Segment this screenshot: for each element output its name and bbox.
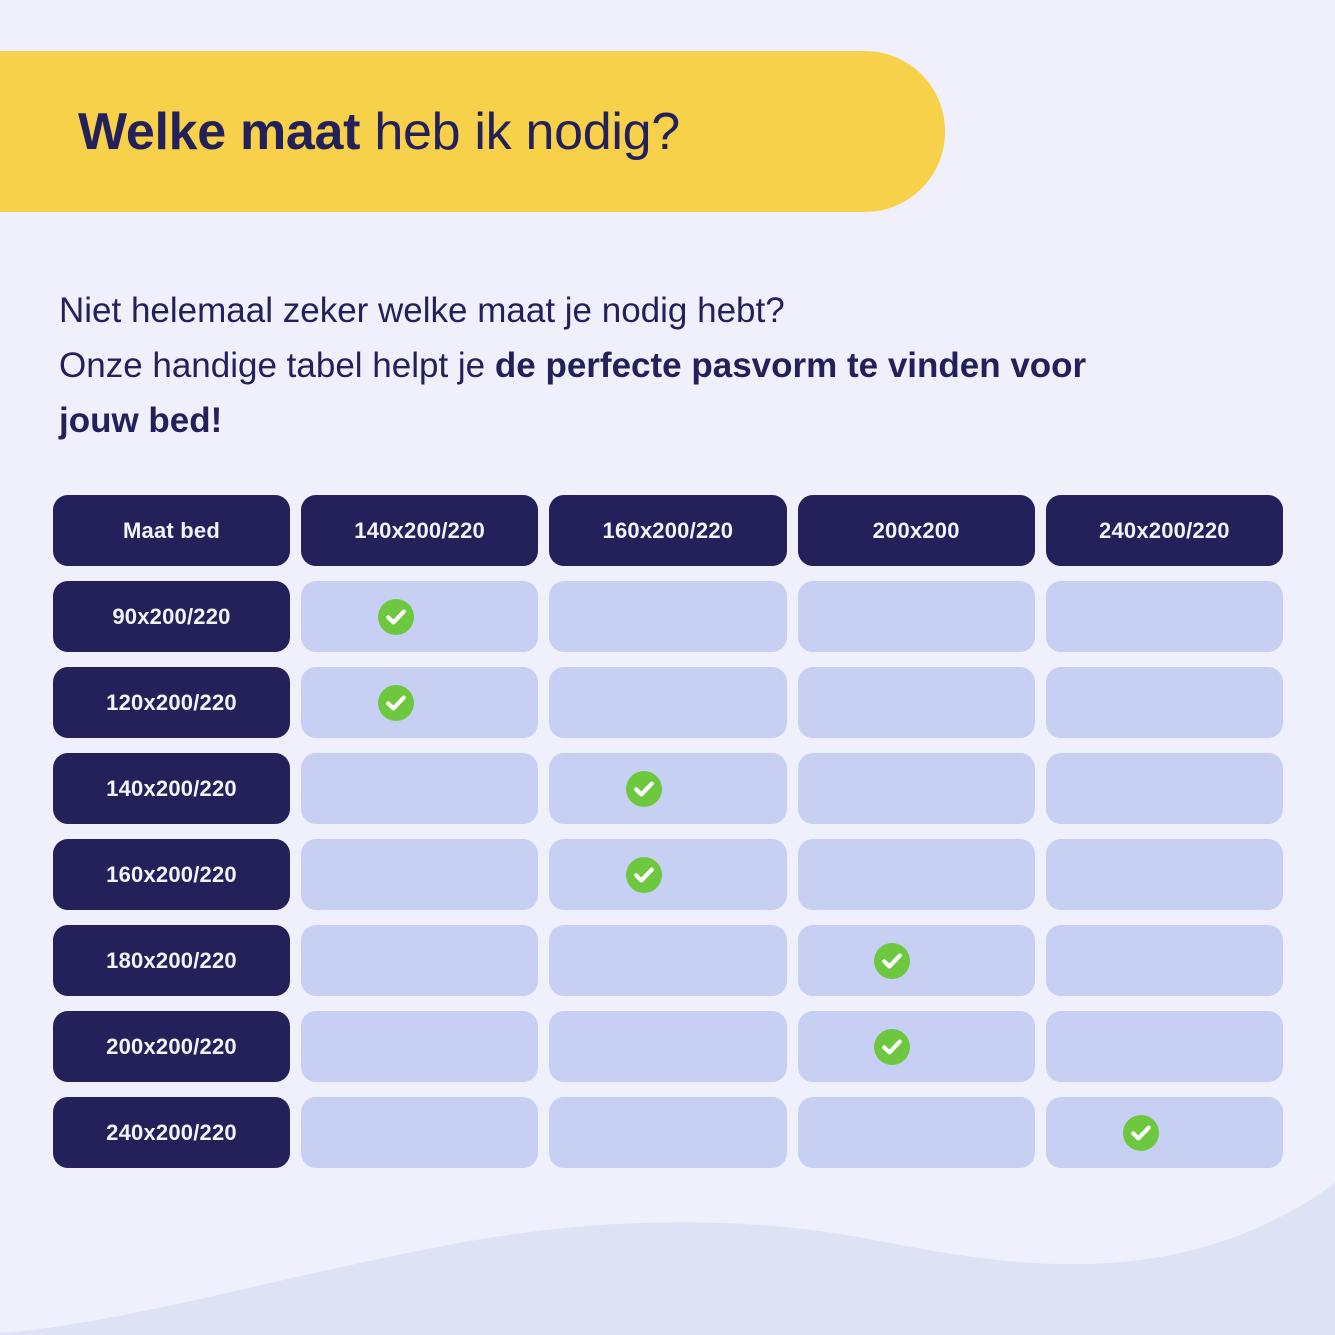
table-cell-r4-c3 [798, 839, 1035, 910]
check-circle-icon [626, 857, 662, 893]
table-cell-r5-c3 [798, 925, 1035, 996]
table-cell-r3-c4 [1046, 753, 1283, 824]
intro-paragraph: Niet helemaal zeker welke maat je nodig … [59, 283, 1119, 448]
row-header-120x200-220: 120x200/220 [53, 667, 290, 738]
column-header-200x200: 200x200 [798, 495, 1035, 566]
table-cell-r4-c1 [301, 839, 538, 910]
table-cell-r1-c2 [549, 581, 786, 652]
table-cell-r2-c2 [549, 667, 786, 738]
column-header-240x200: 240x200/220 [1046, 495, 1283, 566]
row-header-200x200-220: 200x200/220 [53, 1011, 290, 1082]
header-banner: Welke maat heb ik nodig? [0, 51, 945, 212]
check-circle-icon [378, 685, 414, 721]
table-cell-r2-c3 [798, 667, 1035, 738]
table-row: 200x200/220 [53, 1011, 1283, 1082]
table-row: 160x200/220 [53, 839, 1283, 910]
table-cell-r7-c4 [1046, 1097, 1283, 1168]
table-cell-r6-c4 [1046, 1011, 1283, 1082]
table-cell-r2-c4 [1046, 667, 1283, 738]
table-cell-r7-c3 [798, 1097, 1035, 1168]
row-header-240x200-220: 240x200/220 [53, 1097, 290, 1168]
table-cell-r3-c2 [549, 753, 786, 824]
table-row: 240x200/220 [53, 1097, 1283, 1168]
column-header-maat-bed: Maat bed [53, 495, 290, 566]
table-row: 180x200/220 [53, 925, 1283, 996]
table-row: 120x200/220 [53, 667, 1283, 738]
check-circle-icon [626, 771, 662, 807]
table-cell-r1-c4 [1046, 581, 1283, 652]
table-cell-r1-c1 [301, 581, 538, 652]
check-circle-icon [378, 599, 414, 635]
column-header-140x200: 140x200/220 [301, 495, 538, 566]
intro-line-2-normal: Onze handige tabel helpt je [59, 346, 495, 385]
table-row: 140x200/220 [53, 753, 1283, 824]
check-circle-icon [874, 943, 910, 979]
table-cell-r6-c2 [549, 1011, 786, 1082]
table-cell-r1-c3 [798, 581, 1035, 652]
table-cell-r4-c2 [549, 839, 786, 910]
bottom-wave-decoration [0, 1175, 1335, 1335]
check-circle-icon [874, 1029, 910, 1065]
row-header-180x200-220: 180x200/220 [53, 925, 290, 996]
column-header-160x200: 160x200/220 [549, 495, 786, 566]
table-cell-r3-c3 [798, 753, 1035, 824]
table-cell-r7-c1 [301, 1097, 538, 1168]
table-row: 90x200/220 [53, 581, 1283, 652]
table-cell-r7-c2 [549, 1097, 786, 1168]
table-cell-r3-c1 [301, 753, 538, 824]
wave-path [0, 1183, 1335, 1335]
page-title: Welke maat heb ik nodig? [78, 106, 680, 158]
size-table: Maat bed 140x200/220 160x200/220 200x200… [53, 495, 1283, 1168]
row-header-90x200-220: 90x200/220 [53, 581, 290, 652]
table-cell-r6-c3 [798, 1011, 1035, 1082]
table-cell-r5-c1 [301, 925, 538, 996]
table-cell-r6-c1 [301, 1011, 538, 1082]
table-cell-r5-c2 [549, 925, 786, 996]
row-header-140x200-220: 140x200/220 [53, 753, 290, 824]
intro-line-1: Niet helemaal zeker welke maat je nodig … [59, 291, 785, 330]
page-title-bold: Welke maat [78, 103, 360, 161]
table-cell-r2-c1 [301, 667, 538, 738]
table-body: 90x200/220 120x200/220 140x200/220 160x2… [53, 581, 1283, 1168]
table-cell-r4-c4 [1046, 839, 1283, 910]
table-header-row: Maat bed 140x200/220 160x200/220 200x200… [53, 495, 1283, 566]
row-header-160x200-220: 160x200/220 [53, 839, 290, 910]
table-cell-r5-c4 [1046, 925, 1283, 996]
page-title-rest: heb ik nodig? [360, 103, 680, 161]
check-circle-icon [1123, 1115, 1159, 1151]
